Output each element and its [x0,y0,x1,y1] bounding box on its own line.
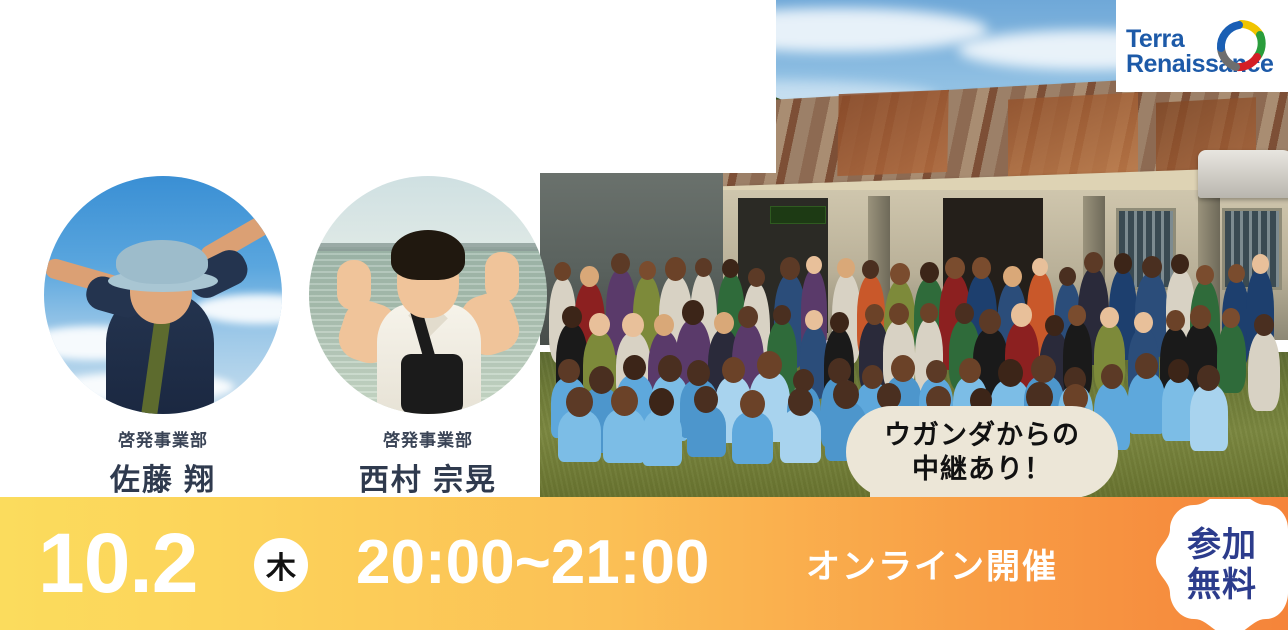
head [1134,312,1153,333]
head [562,306,582,328]
head [833,380,859,409]
head [1003,266,1022,287]
head [757,351,782,379]
speech-bubble-line-1: ウガンダからの [884,418,1080,452]
head [611,386,638,416]
free-badge-line-1: 参加 [1187,525,1257,565]
head [1114,253,1132,273]
free-badge-line-2: 無料 [1187,565,1257,605]
head [1196,265,1214,285]
head [1135,353,1158,379]
head [890,263,910,285]
speech-bubble: ウガンダからの 中継あり！ [846,406,1118,498]
speaker-1-avatar [44,176,282,414]
head [694,386,718,413]
bucket-hat [116,240,208,284]
head [722,357,745,383]
person [558,410,601,462]
speaker-2-avatar [309,176,547,414]
head [1168,359,1189,383]
head [554,262,571,281]
head [926,360,947,384]
person [1128,373,1165,434]
speaker-1: 啓発事業部 佐藤 翔 [43,176,283,499]
speaker-1-role: 啓発事業部 [43,426,283,451]
head [1084,252,1103,273]
head [862,365,883,389]
event-date: 10.2 [38,517,198,609]
head [722,259,739,278]
head [665,257,686,281]
head [837,258,855,278]
head [1254,314,1274,336]
logo-swirl-icon [1212,17,1270,75]
event-info-bar: 10.2 木 20:00~21:00 オンライン開催 [0,497,1288,630]
head [945,257,965,279]
head [611,253,630,274]
head [889,303,909,325]
head [1100,307,1119,328]
terra-renaissance-logo: Terra Renaissance [1116,0,1288,92]
head [589,366,614,394]
head [865,304,884,325]
head [998,359,1023,387]
event-format: オンライン開催 [806,539,1058,588]
speaker-2: 啓発事業部 西村 宗晃 [308,176,548,499]
head [580,266,599,287]
head [748,268,765,287]
person [642,410,683,466]
person [1190,385,1227,451]
head [639,261,656,280]
head [1031,355,1056,383]
shoulder-bag [401,354,463,414]
speaker-1-name: 佐藤 翔 [43,455,283,499]
head [658,355,682,382]
head [920,303,938,323]
head [1059,267,1076,286]
head [805,310,823,330]
head [972,257,991,278]
event-time: 20:00~21:00 [356,523,709,603]
speech-bubble-line-2: 中継あり！ [912,452,1052,486]
head [780,257,800,279]
head [695,258,712,277]
speaker-2-name: 西村 宗晃 [308,455,548,499]
head [1068,305,1086,325]
title-white-box [0,0,776,173]
head [1228,264,1245,283]
free-badge-text: 参加 無料 [1156,499,1288,630]
head [687,360,710,386]
person [780,409,821,463]
event-banner: "ウガンダ バーチャル旅" 〜平和を紡ぐ「グル」と希望を耕す「カラモジャ」 アフ… [0,0,1288,630]
person [1248,331,1280,411]
person [687,406,726,457]
head [862,260,879,279]
hair [391,230,465,280]
speaker-2-role: 啓発事業部 [308,426,548,451]
head [1252,254,1269,273]
free-participation-badge: 参加 無料 [1156,499,1288,630]
head [714,312,734,334]
head [566,387,593,417]
head [1166,310,1185,331]
head [1197,365,1220,391]
head [589,313,610,337]
day-of-week-badge: 木 [254,538,308,592]
head [558,359,580,384]
head [1190,305,1211,329]
head [830,312,849,333]
head [806,256,822,274]
head [1101,364,1123,389]
person [732,412,773,464]
head [1011,303,1032,327]
head [1142,256,1162,278]
person [603,409,646,463]
person [1217,323,1246,393]
